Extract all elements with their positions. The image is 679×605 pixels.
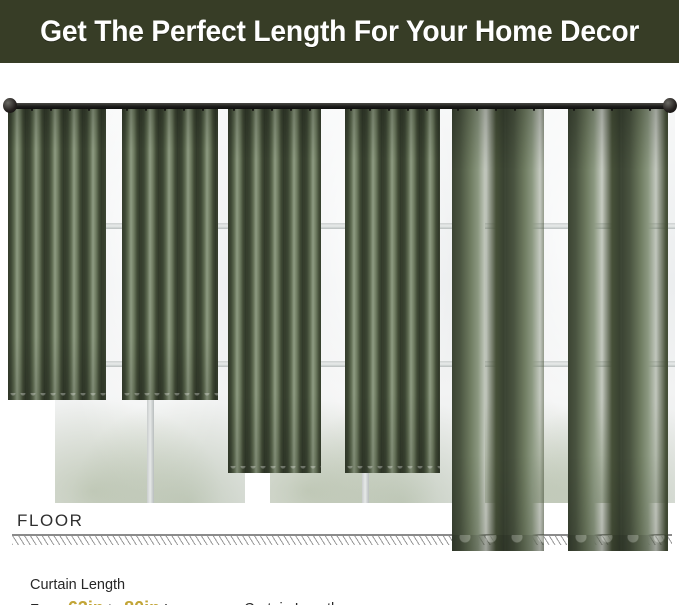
curtain-hook-icon — [495, 109, 497, 111]
curtain-hem — [452, 535, 544, 551]
curtain-hook-icon — [88, 109, 90, 111]
curtain-shading — [345, 109, 440, 473]
curtain-hook-row — [452, 109, 544, 111]
curtain-panel-medium-2 — [345, 109, 440, 473]
banner: Get The Perfect Length For Your Home Dec… — [0, 0, 679, 63]
caption-from-word: From — [30, 602, 64, 605]
curtain-hook-icon — [183, 109, 185, 111]
curtain-hook-icon — [271, 109, 273, 111]
curtain-panel-long-2 — [568, 109, 668, 551]
curtain-shading — [122, 109, 218, 400]
curtain-hook-icon — [202, 109, 204, 111]
curtain-hook-icon — [233, 109, 235, 111]
caption-to-word: to — [108, 602, 120, 605]
banner-title: Get The Perfect Length For Your Home Dec… — [40, 15, 639, 49]
curtain-shading — [8, 109, 106, 400]
curtain-hook-icon — [592, 109, 594, 111]
curtain-hook-icon — [426, 109, 428, 111]
curtain-hook-icon — [50, 109, 52, 111]
rod-finial-left-icon — [3, 98, 17, 113]
curtain-hook-icon — [350, 109, 352, 111]
curtain-hook-icon — [514, 109, 516, 111]
curtain-hook-icon — [533, 109, 535, 111]
caption-max-length: 80in — [124, 598, 160, 605]
caption-range: From 63in to 80in Long — [30, 596, 196, 605]
caption-short: Curtain Length From 63in to 80in Long — [30, 575, 196, 605]
rod-finial-right-icon — [663, 98, 677, 113]
curtain-shading — [568, 109, 668, 551]
curtain-hook-icon — [369, 109, 371, 111]
curtain-hook-icon — [611, 109, 613, 111]
curtain-hook-row — [8, 109, 106, 111]
curtain-hem — [345, 466, 440, 473]
curtain-panel-medium-1 — [228, 109, 321, 473]
caption-min-length: 63in — [68, 598, 104, 605]
curtain-hook-icon — [630, 109, 632, 111]
floor-label: FLOOR — [17, 511, 84, 531]
curtain-hook-row — [122, 109, 218, 111]
curtain-hook-icon — [31, 109, 33, 111]
room-scene: FLOOR Curtain Length From 63in to 80in L… — [0, 63, 679, 605]
curtain-hook-icon — [145, 109, 147, 111]
caption-long-word: Long — [164, 602, 196, 605]
curtain-hook-icon — [69, 109, 71, 111]
curtain-panel-long-1 — [452, 109, 544, 551]
curtain-hook-row — [228, 109, 321, 111]
curtain-hook-icon — [649, 109, 651, 111]
curtain-hook-row — [345, 109, 440, 111]
curtain-panel-short-2 — [122, 109, 218, 400]
curtain-hook-icon — [309, 109, 311, 111]
curtain-hook-icon — [407, 109, 409, 111]
curtain-hook-icon — [290, 109, 292, 111]
curtain-hook-icon — [126, 109, 128, 111]
curtain-hook-icon — [476, 109, 478, 111]
curtain-shading — [452, 109, 544, 551]
curtain-panel-short-1 — [8, 109, 106, 400]
curtain-length-infographic: Get The Perfect Length For Your Home Dec… — [0, 0, 679, 605]
curtain-hem — [122, 393, 218, 400]
curtain-hook-icon — [252, 109, 254, 111]
caption-medium: Curtain Length From 84in to 96in Long — [244, 599, 410, 605]
curtain-hook-row — [568, 109, 668, 111]
curtain-shading — [228, 109, 321, 473]
curtain-hook-icon — [164, 109, 166, 111]
curtain-hook-icon — [388, 109, 390, 111]
curtain-hem — [8, 393, 106, 400]
caption-title: Curtain Length — [244, 599, 410, 605]
curtain-rod — [13, 103, 668, 109]
curtain-hook-icon — [573, 109, 575, 111]
curtain-hem — [568, 535, 668, 551]
curtain-hem — [228, 466, 321, 473]
curtain-hook-icon — [457, 109, 459, 111]
caption-title: Curtain Length — [30, 575, 196, 596]
